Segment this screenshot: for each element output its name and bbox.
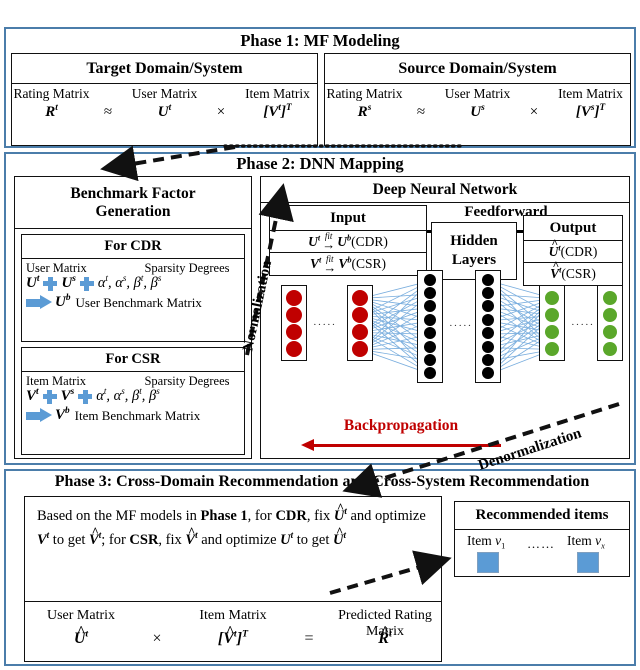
backpropagation-label: Backpropagation [301,417,501,435]
label-user-matrix-t: User Matrix [125,86,204,106]
recommended-items-header: Recommended items [455,502,629,530]
hidden-node-column-1 [417,270,443,383]
csr-formula: Vt Vs αt, αs, βt, βs [26,388,240,405]
neuron-node [545,291,559,305]
neuron-node [482,367,494,379]
recommended-item-1-label: Item v1 [467,533,505,549]
csr-label-item-matrix: Item Matrix [26,374,134,389]
label-user-matrix-s: User Matrix [438,86,517,106]
neuron-node [482,300,494,312]
neuron-node [603,342,617,356]
target-domain-title: Target Domain/System [12,54,317,84]
source-domain-panel: Source Domain/System Rating Matrix User … [324,53,631,146]
cdr-term-Ut: Ut [26,275,39,292]
recommended-items-body: Item v1 …… Item vx [455,530,629,576]
phase2-panel: Phase 2: DNN Mapping Benchmark Factor Ge… [4,152,636,465]
value-Vt-transpose: [Vt]T [238,104,317,132]
phase1-title: Phase 1: MF Modeling [6,32,634,49]
phase3-equation: User Matrix Item Matrix Predicted Rating… [25,602,441,661]
neuron-node [603,308,617,322]
output-node-column-1 [539,285,565,361]
times-sign-s: × [517,104,551,132]
recommended-item-x-label: Item vx [567,533,605,549]
csr-result-Vb: Vb [55,407,70,424]
cdr-result-row: Ub User Benchmark Matrix [26,294,240,311]
blue-arrow-icon [26,295,52,310]
approx-sign-t: ≈ [91,104,125,132]
backpropagation-arrow-icon [301,441,501,451]
target-domain-panel: Target Domain/System Rating Matrix User … [11,53,318,146]
neuron-node [352,307,368,323]
value-Us: Us [438,104,517,132]
for-cdr-body: User Matrix Sparsity Degrees Ut Us αt, α… [22,259,244,314]
neuron-node [603,291,617,305]
figure-root: Phase 1: MF Modeling Target Domain/Syste… [0,0,640,670]
for-csr-box: For CSR Item Matrix Sparsity Degrees Vt … [21,347,245,455]
neuron-node [424,274,436,286]
csr-sparsity-degrees: αt, αs, βt, βs [96,388,159,405]
neuron-node [424,354,436,366]
neuron-node [286,341,302,357]
neuron-node [424,327,436,339]
neuron-node [482,274,494,286]
benchmark-factor-generation-panel: Benchmark Factor Generation For CDR User… [14,176,252,459]
recommended-items-ellipsis: …… [527,536,555,552]
source-domain-equation: Rating Matrix User Matrix Item Matrix Rs… [325,84,630,145]
hidden-ellipsis: ····· [449,320,472,332]
for-cdr-header: For CDR [22,235,244,259]
neuron-node [286,307,302,323]
neuron-node [352,324,368,340]
label-rating-matrix-t: Rating Matrix [12,86,91,106]
cdr-sparsity-degrees: αt, αs, βt, βs [98,275,161,292]
label-rating-matrix-s: Rating Matrix [325,86,404,106]
csr-result-label: Item Benchmark Matrix [75,408,201,424]
neuron-node [482,287,494,299]
cdr-labels: User Matrix Sparsity Degrees [26,261,240,276]
phase3-main-box: Based on the MF models in Phase 1, for C… [24,496,442,662]
input-ellipsis: ····· [313,319,336,331]
neuron-node [545,325,559,339]
recommended-items-box: Recommended items Item v1 …… Item vx [454,501,630,577]
deep-neural-network-panel: Deep Neural Network Feedforward Input Ut… [260,176,630,459]
csr-result-row: Vb Item Benchmark Matrix [26,407,240,424]
phase1-panel: Phase 1: MF Modeling Target Domain/Syste… [4,27,636,148]
plus-icon [43,277,57,291]
eq-value-R-hat: ^Rt [329,630,441,648]
neuron-node [424,314,436,326]
neuron-node [424,287,436,299]
phase2-title: Phase 2: DNN Mapping [6,155,634,172]
plus-icon [43,390,57,404]
neuron-node [424,341,436,353]
value-Rt: Rt [12,104,91,132]
csr-term-Vt: Vt [26,388,39,405]
bfg-title: Benchmark Factor Generation [15,177,251,229]
neuron-node [424,300,436,312]
neuron-node [286,324,302,340]
output-ellipsis: ····· [571,319,594,331]
hidden-node-column-2 [475,270,501,383]
approx-sign-s: ≈ [404,104,438,132]
cdr-result-label: User Benchmark Matrix [76,295,202,311]
input-node-column-1 [281,285,307,361]
source-domain-title: Source Domain/System [325,54,630,84]
target-domain-equation: Rating Matrix User Matrix Item Matrix Rt… [12,84,317,145]
value-Ut: Ut [125,104,204,132]
csr-term-Vs: Vs [61,388,75,405]
neuron-node [352,290,368,306]
neuron-node [545,342,559,356]
neuron-node [603,325,617,339]
bfg-title-line1: Benchmark Factor [70,185,195,203]
neuron-node [482,327,494,339]
cdr-label-user-matrix: User Matrix [26,261,134,276]
times-sign-t: × [204,104,238,132]
csr-labels: Item Matrix Sparsity Degrees [26,374,240,389]
phase3-panel: Phase 3: Cross-Domain Recommendation and… [4,469,636,666]
value-Rs: Rs [325,104,404,132]
input-node-column-2 [347,285,373,361]
bfg-title-line2: Generation [96,203,171,221]
eq-equals-sign: = [289,630,329,648]
recommended-item-x-thumbnail[interactable] [577,552,599,573]
blue-arrow-icon [26,408,52,423]
neuron-node [482,314,494,326]
cdr-label-sparsity: Sparsity Degrees [134,261,240,276]
eq-value-V-hat-T: [^Vt]T [177,630,289,648]
neuron-node [482,341,494,353]
phase3-title: Phase 3: Cross-Domain Recommendation and… [8,473,636,491]
csr-label-sparsity: Sparsity Degrees [134,374,240,389]
for-csr-header: For CSR [22,348,244,372]
for-csr-body: Item Matrix Sparsity Degrees Vt Vs αt, α… [22,372,244,427]
output-node-column-2 [597,285,623,361]
neuron-node [286,290,302,306]
recommended-item-1-thumbnail[interactable] [477,552,499,573]
plus-icon [80,277,94,291]
plus-icon [78,390,92,404]
neuron-node [545,308,559,322]
neuron-node [352,341,368,357]
value-Vs-transpose: [Vs]T [551,104,630,132]
eq-times-sign: × [137,630,177,648]
neuron-node [424,367,436,379]
for-cdr-box: For CDR User Matrix Sparsity Degrees Ut … [21,234,245,342]
cdr-result-Ub: Ub [55,294,71,311]
backpropagation-group: Backpropagation [301,417,501,455]
phase3-description: Based on the MF models in Phase 1, for C… [25,497,441,602]
cdr-formula: Ut Us αt, αs, βt, βs [26,275,240,292]
neuron-node [482,354,494,366]
eq-value-U-hat: ^Ut [25,630,137,648]
cdr-term-Us: Us [61,275,75,292]
